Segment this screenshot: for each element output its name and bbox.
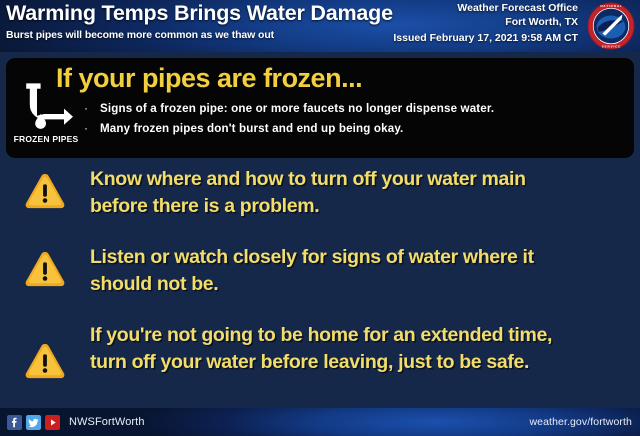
weather-infographic: Warming Temps Brings Water Damage Burst … bbox=[0, 0, 640, 436]
warning-text: Listen or watch closely for signs of wat… bbox=[90, 244, 540, 298]
header-left-block: Warming Temps Brings Water Damage Burst … bbox=[6, 1, 393, 42]
warning-triangle-icon bbox=[24, 342, 66, 380]
website-link[interactable]: weather.gov/fortworth bbox=[530, 416, 633, 428]
bullet-marker-icon: · bbox=[84, 100, 100, 117]
panel-heading: If your pipes are frozen... bbox=[56, 62, 362, 94]
nws-logo: N A T I O N A L S E R V I C E bbox=[586, 2, 636, 50]
warning-text-line: turn off your water before leaving, just… bbox=[90, 349, 552, 376]
warning-list: Know where and how to turn off your wate… bbox=[0, 166, 640, 406]
office-name-line1: Weather Forecast Office bbox=[393, 2, 578, 16]
page-title: Warming Temps Brings Water Damage bbox=[6, 1, 393, 26]
svg-text:N A T I O N A L: N A T I O N A L bbox=[600, 4, 621, 8]
youtube-icon[interactable] bbox=[45, 415, 60, 430]
warning-row: Listen or watch closely for signs of wat… bbox=[0, 244, 640, 298]
frozen-pipes-label: FROZEN PIPES bbox=[12, 134, 80, 144]
warning-row: Know where and how to turn off your wate… bbox=[0, 166, 640, 220]
list-item: · Many frozen pipes don't burst and end … bbox=[84, 120, 632, 137]
header-right-block: Weather Forecast Office Fort Worth, TX I… bbox=[393, 2, 578, 46]
warning-text-line: Listen or watch closely for signs of wat… bbox=[90, 244, 534, 271]
footer-bar: NWSFortWorth weather.gov/fortworth bbox=[0, 408, 640, 436]
list-item-text: Signs of a frozen pipe: one or more fauc… bbox=[100, 100, 494, 117]
warning-text-line: before there is a problem. bbox=[90, 193, 526, 220]
social-handle[interactable]: NWSFortWorth bbox=[69, 416, 145, 428]
social-links-group: NWSFortWorth bbox=[7, 415, 145, 430]
page-subtitle: Burst pipes will become more common as w… bbox=[6, 28, 393, 42]
header-banner: Warming Temps Brings Water Damage Burst … bbox=[0, 0, 640, 52]
frozen-pipes-panel: FROZEN PIPES If your pipes are frozen...… bbox=[6, 58, 634, 158]
warning-triangle-icon bbox=[24, 250, 66, 288]
issued-timestamp: Issued February 17, 2021 9:58 AM CT bbox=[393, 32, 578, 46]
facebook-icon[interactable] bbox=[7, 415, 22, 430]
warning-icon-cell bbox=[0, 166, 90, 210]
list-item-text: Many frozen pipes don't burst and end up… bbox=[100, 120, 403, 137]
twitter-icon[interactable] bbox=[26, 415, 41, 430]
warning-text: If you're not going to be home for an ex… bbox=[90, 322, 558, 376]
warning-text-line: should not be. bbox=[90, 271, 534, 298]
bullet-marker-icon: · bbox=[84, 120, 100, 137]
warning-text-line: Know where and how to turn off your wate… bbox=[90, 166, 526, 193]
svg-text:S E R V I C E: S E R V I C E bbox=[602, 45, 621, 49]
warning-row: If you're not going to be home for an ex… bbox=[0, 322, 640, 380]
warning-text-line: If you're not going to be home for an ex… bbox=[90, 322, 552, 349]
warning-triangle-icon bbox=[24, 172, 66, 210]
frozen-pipe-bullet-list: · Signs of a frozen pipe: one or more fa… bbox=[84, 100, 632, 140]
list-item: · Signs of a frozen pipe: one or more fa… bbox=[84, 100, 632, 117]
office-name-line2: Fort Worth, TX bbox=[393, 16, 578, 30]
warning-text: Know where and how to turn off your wate… bbox=[90, 166, 532, 220]
warning-icon-cell bbox=[0, 322, 90, 380]
warning-icon-cell bbox=[0, 244, 90, 288]
